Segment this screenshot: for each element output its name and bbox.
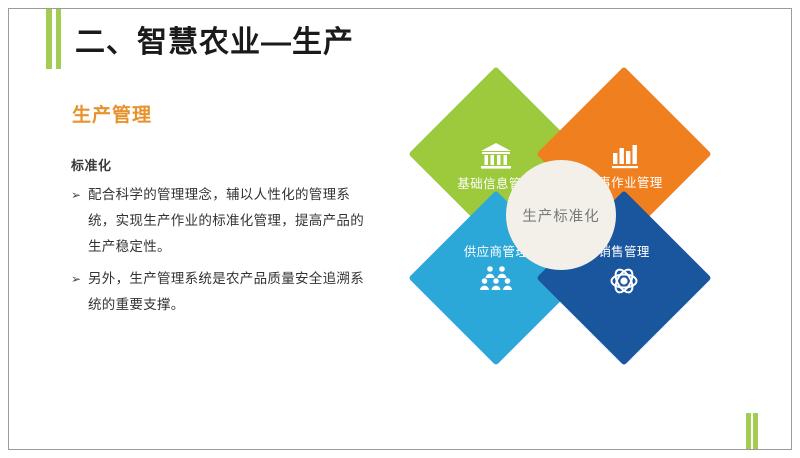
list-item: ➢ 配合科学的管理理念，辅以人性化的管理系统，实现生产作业的标准化管理，提高产品… xyxy=(71,182,371,260)
list-item-text: 配合科学的管理理念，辅以人性化的管理系统，实现生产作业的标准化管理，提高产品的生… xyxy=(88,182,371,260)
section-subtitle: 生产管理 xyxy=(72,100,152,127)
diagram-center-label: 生产标准化 xyxy=(522,205,600,226)
atom-orbit-icon xyxy=(607,266,641,296)
bullet-list: ➢ 配合科学的管理理念，辅以人性化的管理系统，实现生产作业的标准化管理，提高产品… xyxy=(71,182,371,324)
accent-bar-1 xyxy=(46,9,52,69)
bar-chart-icon xyxy=(607,140,641,170)
footer-accent-bar-1 xyxy=(746,413,751,449)
bullet-arrow-icon: ➢ xyxy=(71,266,88,292)
list-item-text: 另外，生产管理系统是农产品质量安全追溯系统的重要支撑。 xyxy=(88,266,371,318)
title-accent-bars xyxy=(46,9,66,69)
people-group-icon xyxy=(479,264,513,294)
bank-building-icon xyxy=(479,141,513,171)
body-heading: 标准化 xyxy=(71,155,112,174)
page-title: 二、智慧农业—生产 xyxy=(75,17,354,61)
footer-accent-bars xyxy=(746,413,760,449)
footer-accent-bar-2 xyxy=(753,413,758,449)
accent-bar-2 xyxy=(56,9,61,69)
bullet-arrow-icon: ➢ xyxy=(71,182,88,208)
list-item: ➢ 另外，生产管理系统是农产品质量安全追溯系统的重要支撑。 xyxy=(71,266,371,318)
slide-canvas: 二、智慧农业—生产 生产管理 标准化 ➢ 配合科学的管理理念，辅以人性化的管理系… xyxy=(0,0,800,458)
production-standardization-diagram: 基础信息管理 农事作业管理 xyxy=(432,92,688,340)
diagram-center-circle: 生产标准化 xyxy=(506,160,616,270)
